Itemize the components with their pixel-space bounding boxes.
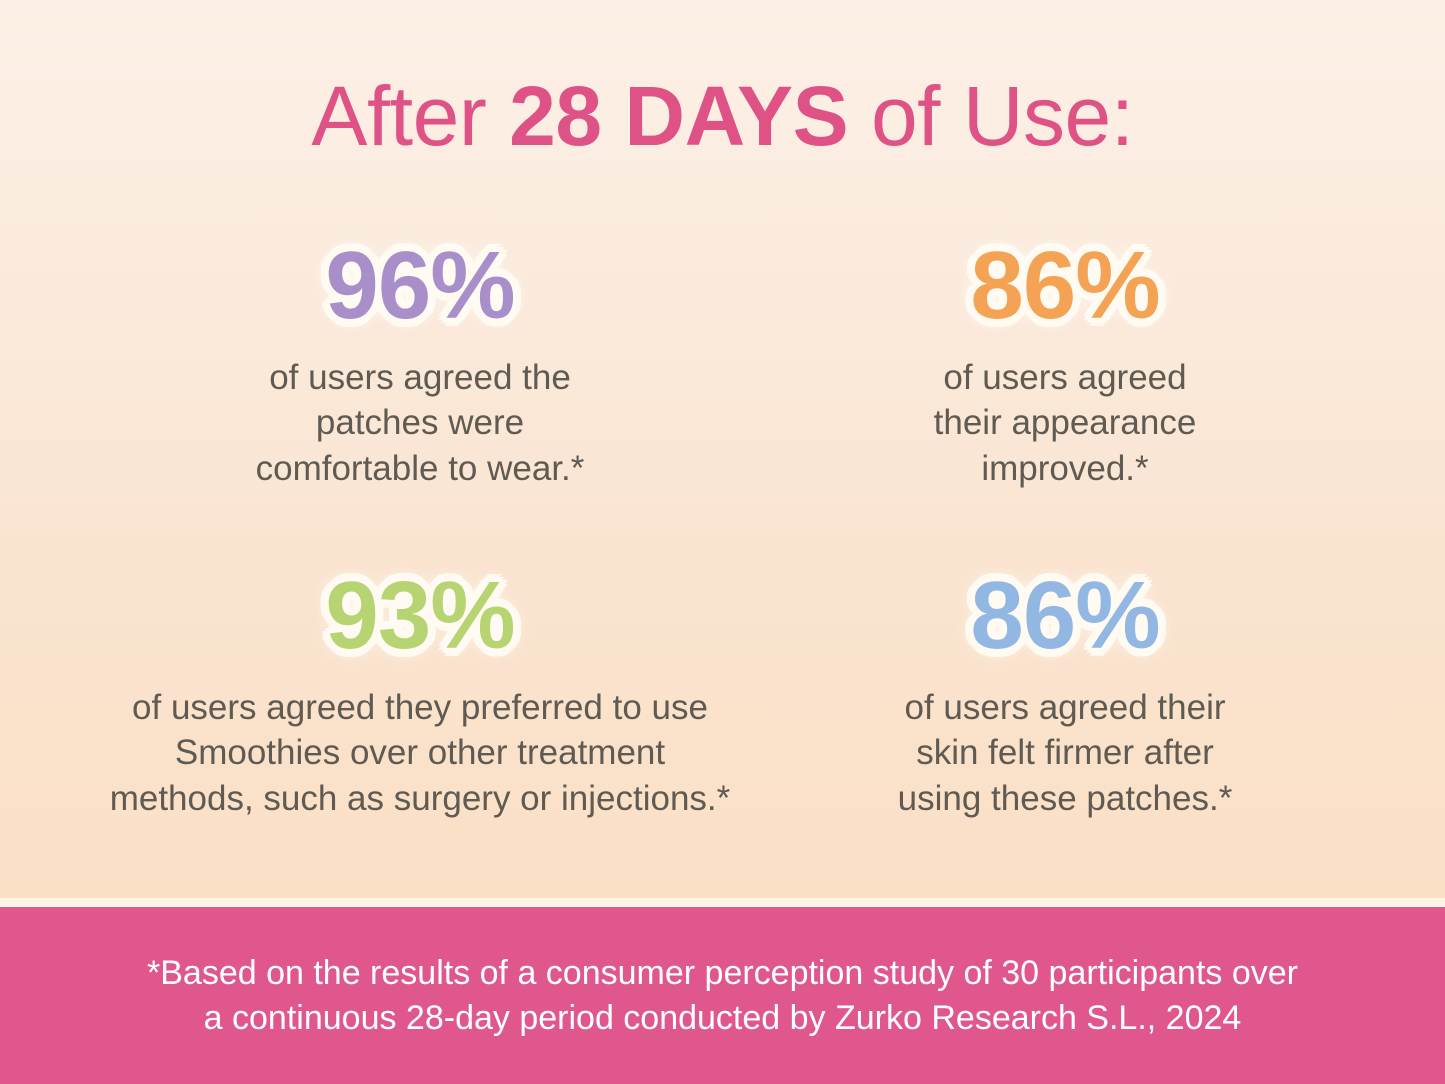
banner-divider <box>0 898 1445 907</box>
stat-value-86-firmer: 86% <box>810 566 1320 667</box>
stat-card-firmer: 86% of users agreed their skin felt firm… <box>810 566 1320 821</box>
infographic-poster: After 28 DAYS of Use: 96% of users agree… <box>0 0 1445 1084</box>
footer-banner: *Based on the results of a consumer perc… <box>0 907 1445 1084</box>
stat-value-96: 96% <box>150 236 690 337</box>
stat-value-86-appearance: 86% <box>800 236 1330 337</box>
stat-caption-comfortable: of users agreed the patches were comfort… <box>150 355 690 492</box>
title-prefix: After <box>311 69 509 163</box>
footer-disclaimer: *Based on the results of a consumer perc… <box>123 951 1322 1041</box>
stat-value-93: 93% <box>60 566 780 667</box>
stat-card-preferred: 93% of users agreed they preferred to us… <box>60 566 780 821</box>
stat-caption-appearance: of users agreed their appearance improve… <box>800 355 1330 492</box>
stat-caption-preferred: of users agreed they preferred to use Sm… <box>60 685 780 822</box>
stat-caption-firmer: of users agreed their skin felt firmer a… <box>810 685 1320 822</box>
title-suffix: of Use: <box>848 69 1133 163</box>
title-emphasis: 28 DAYS <box>509 69 848 163</box>
stat-card-comfortable: 96% of users agreed the patches were com… <box>150 236 690 491</box>
page-title: After 28 DAYS of Use: <box>0 74 1445 158</box>
stat-card-appearance: 86% of users agreed their appearance imp… <box>800 236 1330 491</box>
stats-grid: 96% of users agreed the patches were com… <box>0 236 1445 876</box>
